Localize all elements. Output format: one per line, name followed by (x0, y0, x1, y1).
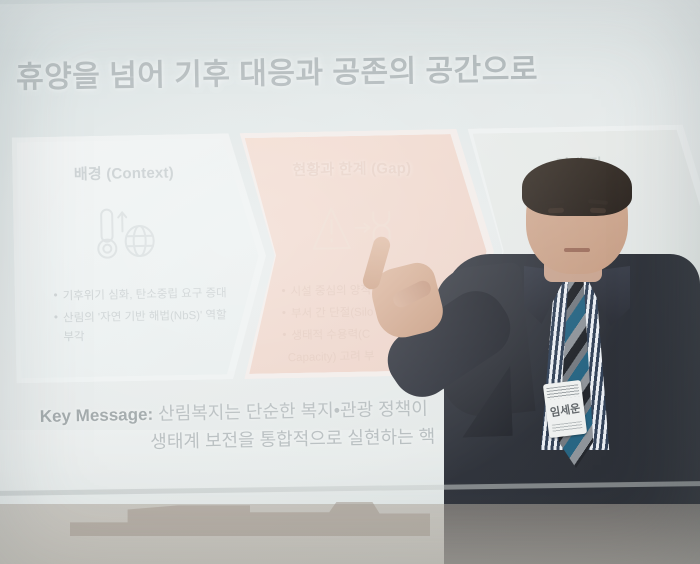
bullet-text: 부서 간 단절(Silo (291, 304, 374, 325)
bullet-marker: • (53, 288, 57, 307)
bullet-marker: • (54, 310, 59, 348)
key-message-line1: 산림복지는 단순한 복지•관광 정책이 (158, 399, 428, 424)
panel-context-bullets: • 기후위기 심화, 탄소중립 요구 증대 • 산림의 '자연 기반 해법(Nb… (53, 284, 228, 350)
list-item: • 산림의 '자연 기반 해법(NbS)' 역할 부각 (54, 306, 229, 347)
thermometer-globe-icon (18, 194, 232, 274)
name-badge: 임세운 (543, 380, 587, 438)
panel-context-body: 배경 (Context) • 기후위기 심화, 탄 (17, 138, 263, 379)
panel-context-title: 배경 (Context) (17, 160, 230, 185)
list-item: • 기후위기 심화, 탄소중립 요구 증대 (53, 284, 228, 306)
bullet-marker: • (281, 283, 285, 302)
eye-right (590, 208, 606, 214)
badge-header-lines (546, 384, 579, 400)
bullet-marker: • (282, 305, 286, 324)
badge-footer-lines (552, 421, 583, 433)
slide-title: 휴양을 넘어 기후 대응과 공존의 공간으로 (16, 44, 577, 97)
bullet-marker: • (282, 327, 286, 346)
bullet-text: 기후위기 심화, 탄소중립 요구 증대 (62, 284, 226, 306)
badge-name: 임세운 (545, 399, 585, 421)
screen-sheen-top (0, 0, 700, 52)
panel-context: 배경 (Context) • 기후위기 심화, 탄 (12, 133, 269, 384)
eye-left (548, 208, 564, 214)
key-message-label: Key Message: (40, 405, 154, 426)
presentation-photo-scene: 휴양을 넘어 기후 대응과 공존의 공간으로 배경 (Context) (0, 0, 700, 564)
hair (522, 158, 632, 216)
mouth (564, 248, 590, 252)
bullet-text: Capacity) 고려 부 (288, 347, 375, 368)
bullet-text: 생태적 수용력(C (291, 326, 370, 346)
bullet-text: 산림의 '자연 기반 해법(NbS)' 역할 부각 (63, 306, 229, 347)
